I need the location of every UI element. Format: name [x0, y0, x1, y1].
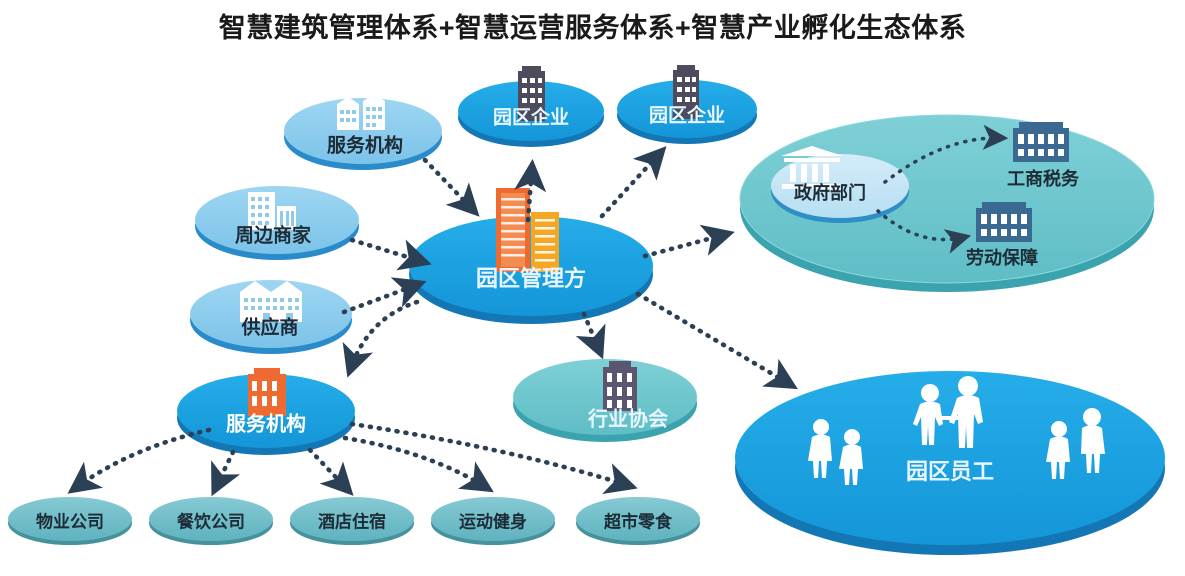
supplier-label[interactable]: 供应商 [241, 313, 298, 340]
industry-association-label[interactable]: 行业协会 [588, 403, 668, 432]
gov-item-label-labor[interactable]: 劳动保障 [966, 244, 1038, 270]
nearby-merchants-label[interactable]: 周边商家 [235, 221, 311, 248]
arrow-service-to-hotel [310, 450, 348, 490]
center-node-label[interactable]: 园区管理方 [476, 261, 586, 293]
government-dept-label[interactable]: 政府部门 [794, 179, 866, 205]
gov-item-label-tax[interactable]: 工商税务 [1007, 165, 1079, 191]
service-target-label-property[interactable]: 物业公司 [36, 508, 104, 533]
arrow-center-to-service-bottom [350, 302, 417, 370]
connection-arrows [0, 0, 1185, 576]
service-org-top-label[interactable]: 服务机构 [327, 131, 403, 158]
arrow-center-to-enterprise-right [602, 152, 661, 216]
arrow-service-to-market [352, 424, 630, 486]
service-target-label-fitness[interactable]: 运动健身 [459, 508, 527, 533]
arrow-gov-to-labor [878, 211, 965, 240]
service-target-label-hotel[interactable]: 酒店住宿 [318, 508, 386, 533]
enterprise-left-label[interactable]: 园区企业 [493, 103, 569, 130]
service-org-bottom-label[interactable]: 服务机构 [226, 408, 306, 437]
service-target-label-catering[interactable]: 餐饮公司 [177, 508, 245, 533]
arrow-gov-to-tax [885, 138, 1002, 182]
employee-zone-label[interactable]: 园区员工 [906, 454, 994, 486]
enterprise-right-label[interactable]: 园区企业 [649, 101, 725, 128]
arrow-center-to-employee [638, 294, 791, 385]
arrow-service-to-catering [215, 452, 233, 489]
arrow-service-top-to-center [425, 160, 474, 211]
arrow-merchants-to-center [352, 240, 424, 262]
arrow-service-to-property [74, 430, 209, 489]
arrow-center-to-enterprise-left [528, 167, 532, 220]
arrow-center-to-industry-assoc [584, 314, 600, 352]
service-target-label-market[interactable]: 超市零食 [604, 508, 672, 533]
arrow-center-to-government [645, 234, 727, 256]
